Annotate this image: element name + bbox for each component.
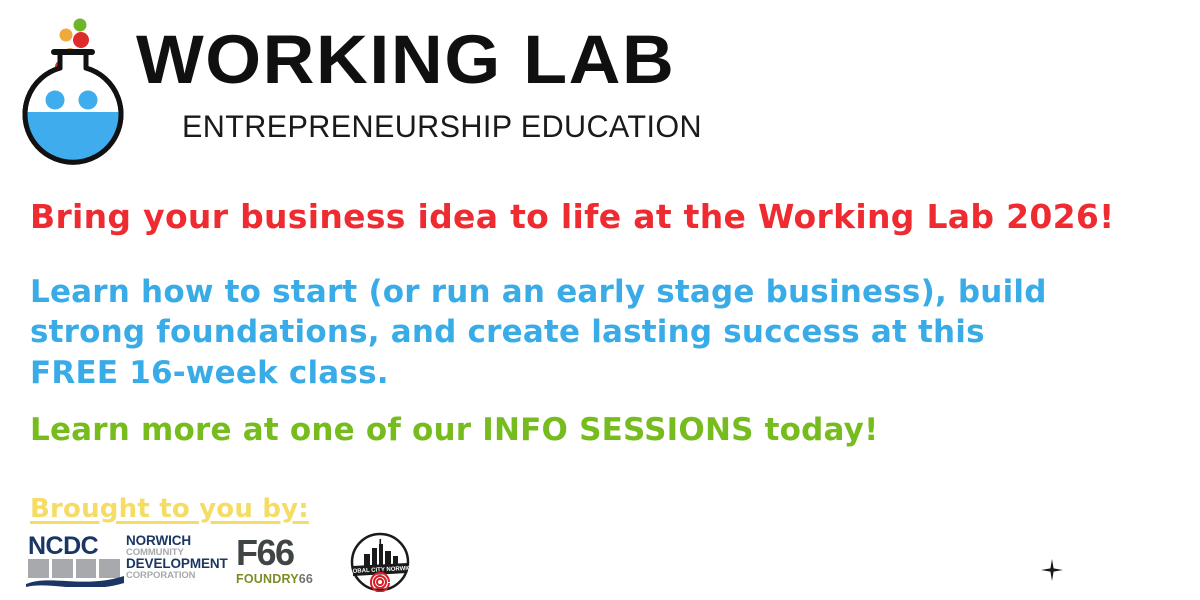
ncdc-name-line-3: DEVELOPMENT xyxy=(126,557,210,571)
foundry66-name: FOUNDRY66 xyxy=(236,573,322,586)
foundry66-number: 66 xyxy=(299,572,313,586)
ncdc-monogram: NCDC xyxy=(28,534,98,559)
sponsor-logo-row: NCDC NORWICH COMMUNITY DEVELOPMENT CORPO… xyxy=(24,532,412,594)
body-paragraph: Learn how to start (or run an early stag… xyxy=(30,272,1180,393)
ncdc-name-line-1: NORWICH xyxy=(126,534,210,548)
flyer-canvas: WORKING LAB ENTREPRENEURSHIP EDUCATION B… xyxy=(0,0,1200,600)
sponsor-logo-global-city-norwich: GLOBAL CITY NORWICH xyxy=(348,532,412,592)
sponsors-label: Brought to you by: xyxy=(30,494,309,524)
brand-wordmark: WORKING LAB xyxy=(136,26,739,94)
foundry66-word: FOUNDRY xyxy=(236,572,299,586)
brand-logo-lockup: WORKING LAB ENTREPRENEURSHIP EDUCATION xyxy=(8,8,708,176)
body-line-3: FREE 16-week class. xyxy=(30,353,1180,393)
sponsor-logo-foundry66: F66 FOUNDRY66 xyxy=(236,532,322,593)
sponsor-logo-ncdc: NCDC NORWICH COMMUNITY DEVELOPMENT CORPO… xyxy=(24,532,210,590)
ncdc-name-block: NORWICH COMMUNITY DEVELOPMENT CORPORATIO… xyxy=(126,534,210,581)
four-point-star-sparkle-icon xyxy=(1040,558,1064,582)
headline-primary: Bring your business idea to life at the … xyxy=(30,198,1114,237)
body-line-1: Learn how to start (or run an early stag… xyxy=(30,272,1180,312)
brand-wordmark-group: WORKING LAB ENTREPRENEURSHIP EDUCATION xyxy=(136,26,716,142)
erlenmeyer-flask-icon xyxy=(8,8,138,176)
brand-tagline: ENTREPRENEURSHIP EDUCATION xyxy=(182,111,700,143)
foundry66-monogram: F66 xyxy=(236,535,322,571)
ncdc-name-line-4: CORPORATION xyxy=(126,571,210,581)
body-line-2: strong foundations, and create lasting s… xyxy=(30,312,1180,352)
call-to-action-text: Learn more at one of our INFO SESSIONS t… xyxy=(30,412,878,449)
ncdc-wave-graphic xyxy=(26,573,124,587)
